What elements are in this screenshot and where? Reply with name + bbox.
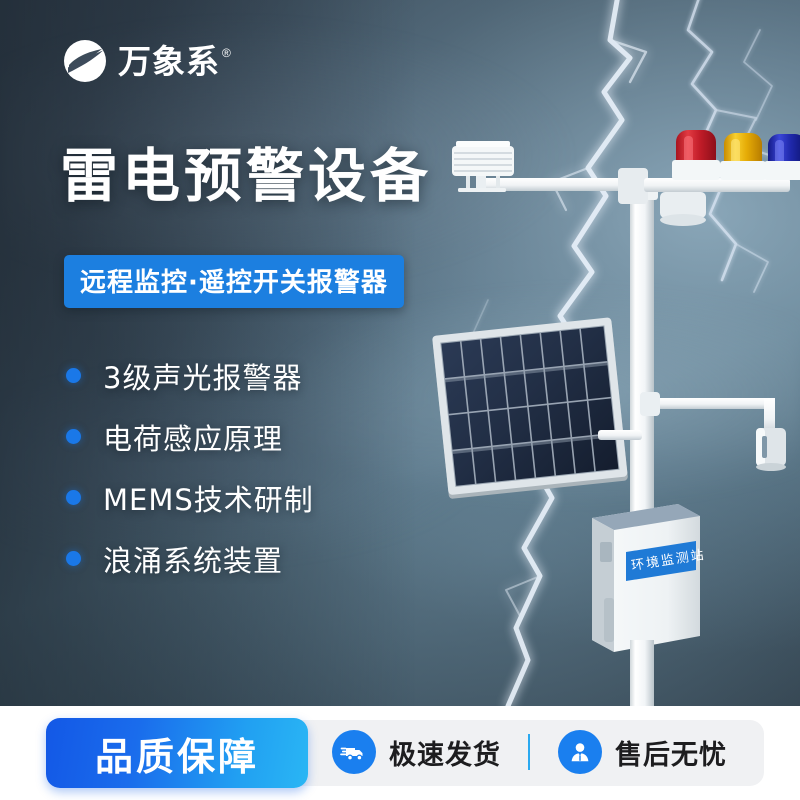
bullet-dot-icon — [66, 429, 81, 444]
quality-guarantee-label: 品质保障 — [95, 726, 259, 781]
trademark-symbol: ® — [222, 47, 231, 59]
trust-item-after-sales: 售后无忧 — [558, 730, 727, 774]
support-agent-icon — [558, 730, 602, 774]
bullet-dot-icon — [66, 368, 81, 383]
feature-label: 浪涌系统装置 — [103, 538, 283, 580]
list-item: 电荷感应原理 — [66, 406, 314, 467]
swirl-sphere-logo-icon — [62, 38, 108, 84]
trust-bar-divider — [528, 734, 530, 770]
bullet-dot-icon — [66, 490, 81, 505]
product-poster: 环境监测站 万象系 ® — [0, 0, 800, 800]
brand-logo: 万象系 ® — [62, 38, 231, 84]
trust-item-fast-shipping: 极速发货 — [332, 730, 501, 774]
quality-guarantee-badge: 品质保障 — [46, 718, 308, 788]
delivery-truck-icon — [332, 730, 376, 774]
feature-label: MEMS技术研制 — [103, 477, 314, 519]
list-item: 浪涌系统装置 — [66, 528, 314, 589]
feature-label: 电荷感应原理 — [103, 416, 283, 458]
trust-item-label: 售后无忧 — [615, 733, 727, 772]
feature-label: 3级声光报警器 — [103, 355, 302, 397]
page-title: 雷电预警设备 — [60, 145, 432, 209]
feature-list: 3级声光报警器 电荷感应原理 MEMS技术研制 浪涌系统装置 — [66, 345, 314, 589]
list-item: 3级声光报警器 — [66, 345, 314, 406]
trust-bar: 品质保障 极速发货 — [0, 706, 800, 800]
list-item: MEMS技术研制 — [66, 467, 314, 528]
bullet-dot-icon — [66, 551, 81, 566]
trust-item-label: 极速发货 — [389, 733, 501, 772]
hero-background-photo: 环境监测站 万象系 ® — [0, 0, 800, 706]
brand-name: 万象系 — [118, 45, 220, 78]
subtitle-badge: 远程监控·遥控开关报警器 — [64, 255, 404, 308]
